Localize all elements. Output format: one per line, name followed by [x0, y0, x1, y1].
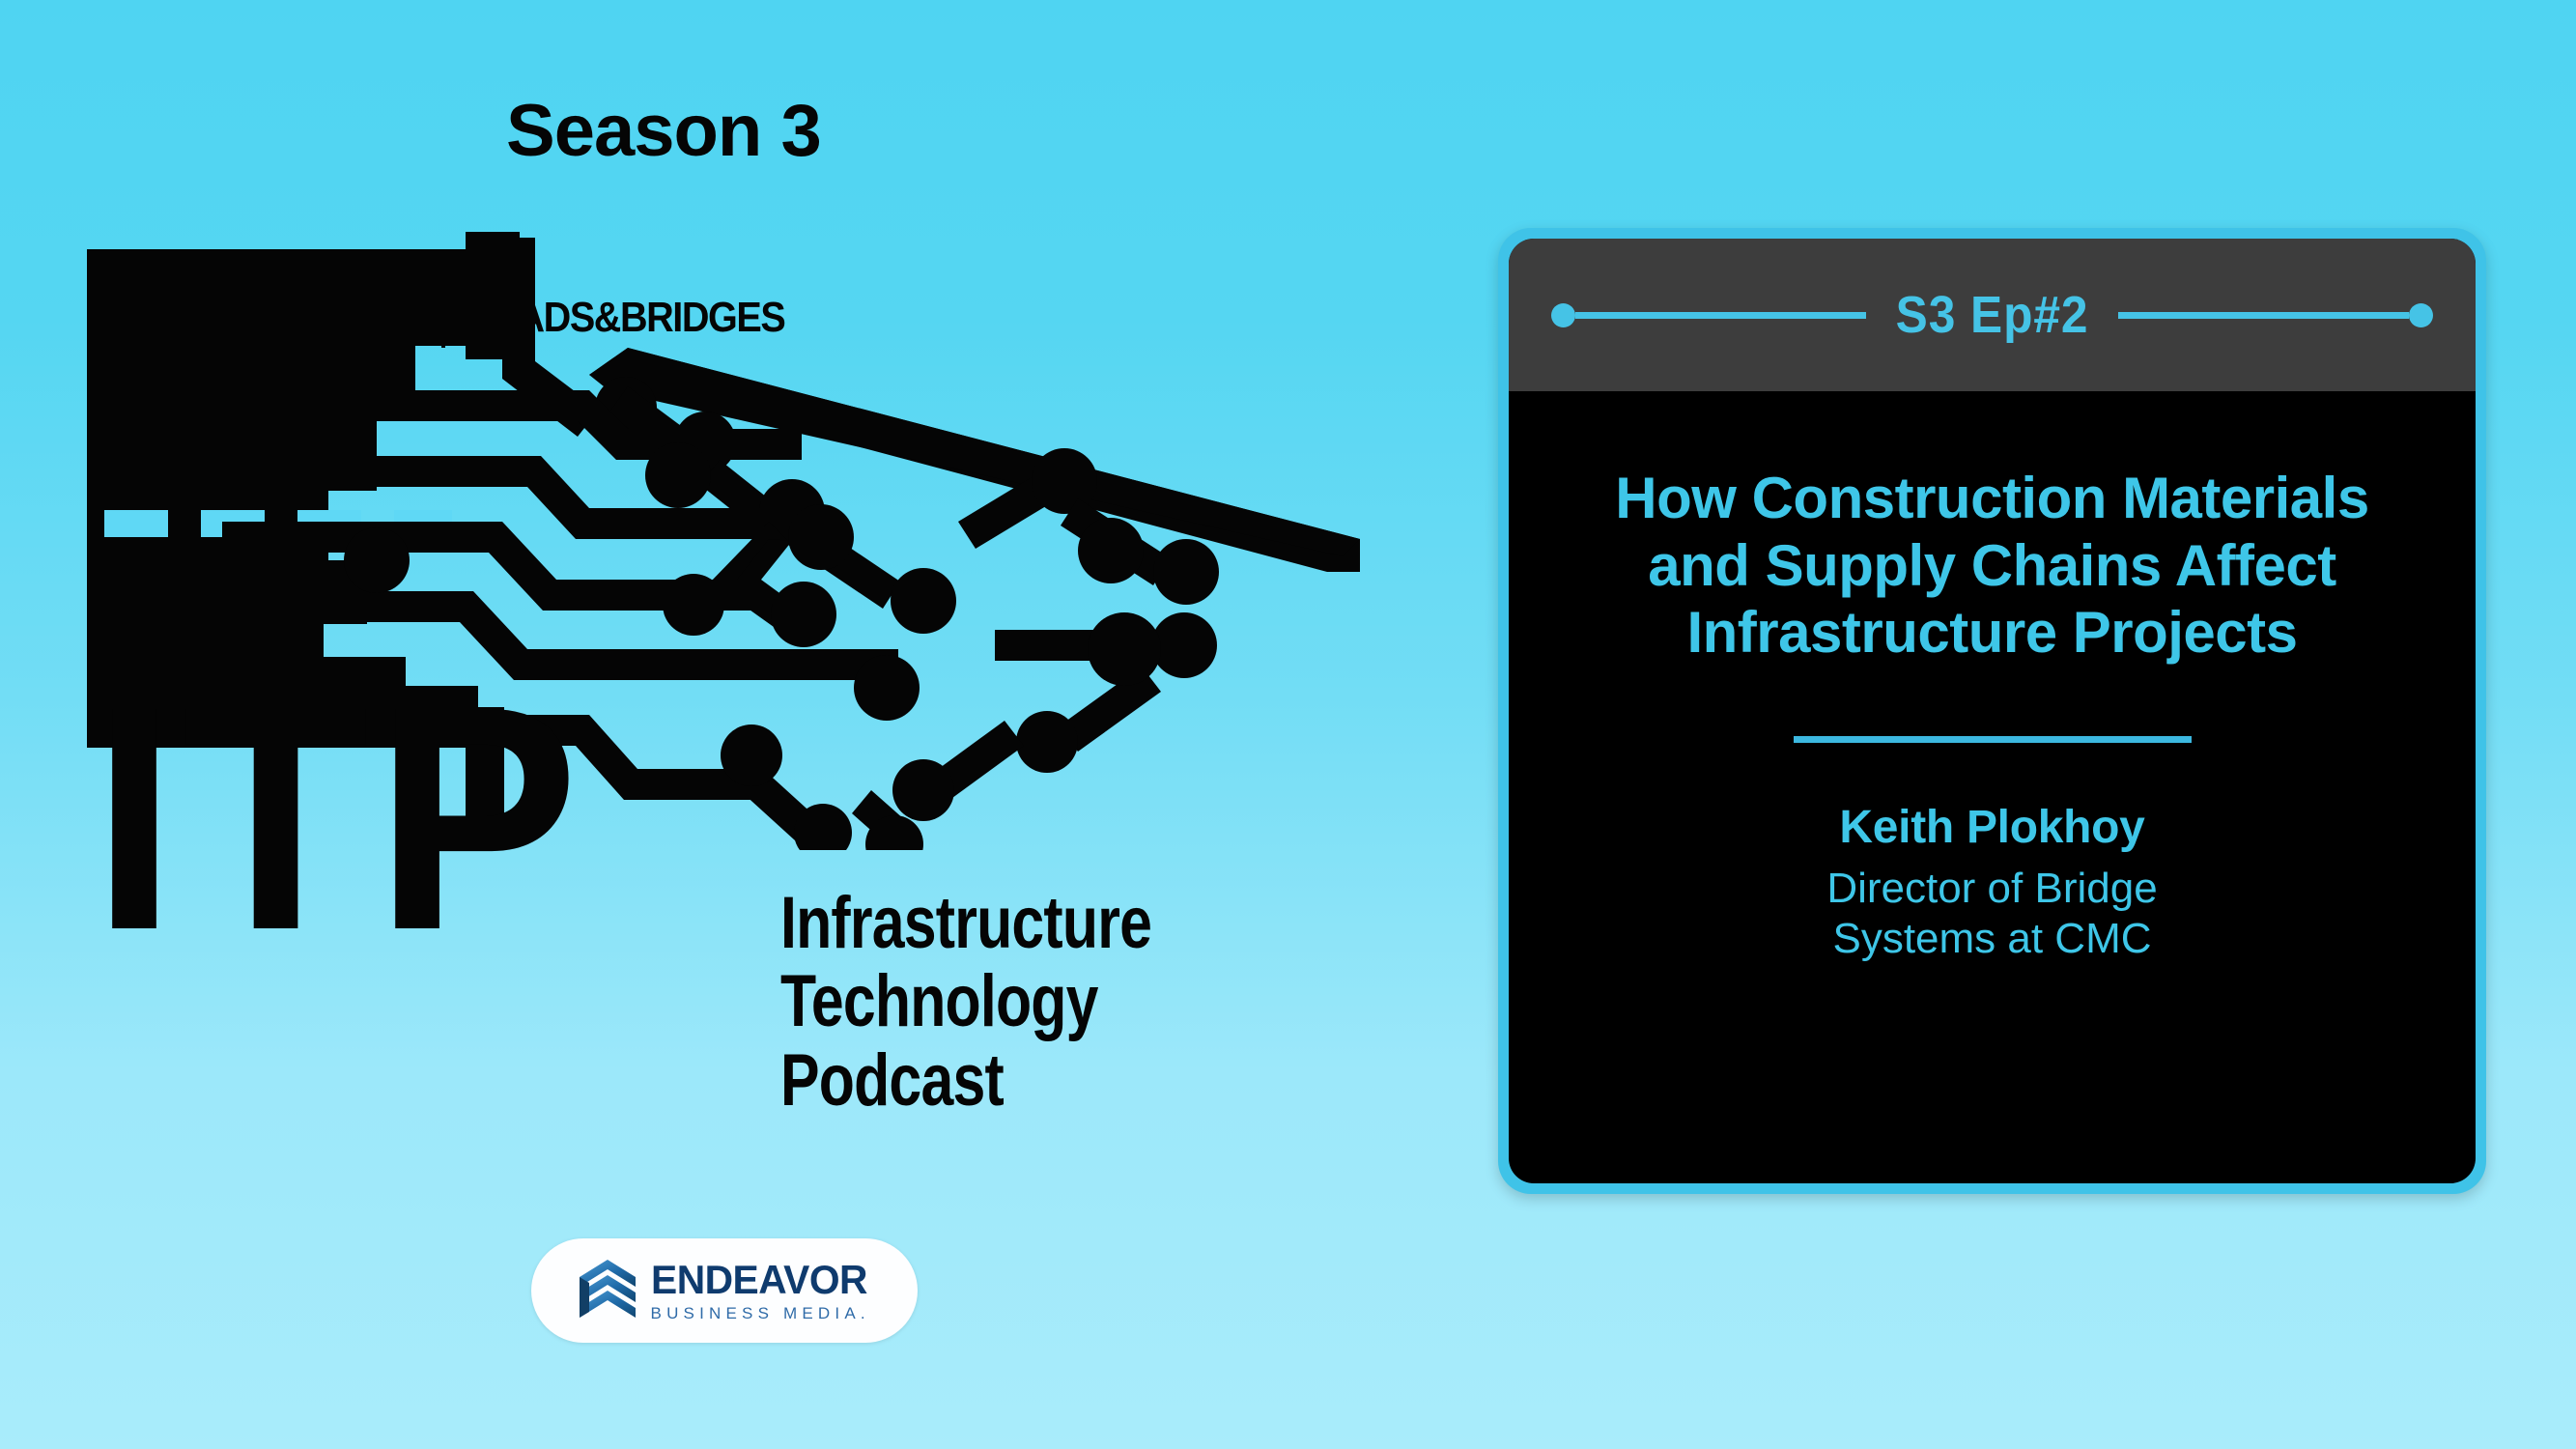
season-label: Season 3	[506, 95, 821, 168]
endeavor-text-block: ENDEAVOR BUSINESS MEDIA.	[651, 1260, 874, 1321]
endeavor-business-media-logo: ENDEAVOR BUSINESS MEDIA.	[531, 1238, 918, 1343]
itp-monogram: ITP	[92, 688, 584, 950]
guest-name: Keith Plokhoy	[1826, 803, 2157, 854]
episode-card-body: How Construction Materials and Supply Ch…	[1509, 391, 2476, 1183]
endeavor-wordmark: ENDEAVOR	[651, 1260, 867, 1300]
episode-title: How Construction Materials and Supply Ch…	[1559, 465, 2425, 667]
endeavor-tagline: BUSINESS MEDIA.	[651, 1305, 874, 1321]
episode-card-inner: S3 Ep#2 How Construction Materials and S…	[1509, 239, 2476, 1183]
podcast-cover-artwork: Season 3 MASS TRANSIT ROADS&BRIDGES	[0, 0, 2576, 1449]
guest-role: Director of Bridge Systems at CMC	[1826, 864, 2157, 966]
episode-card-divider	[1794, 736, 2192, 743]
header-dot-right-icon	[2409, 303, 2433, 327]
header-rule-left	[1575, 312, 1866, 319]
podcast-full-name: Infrastructure Technology Podcast	[780, 884, 1151, 1120]
header-rule-right	[2118, 312, 2409, 319]
episode-card-header: S3 Ep#2	[1509, 239, 2476, 391]
header-dot-left-icon	[1551, 303, 1575, 327]
episode-card: S3 Ep#2 How Construction Materials and S…	[1498, 228, 2486, 1194]
episode-tag: S3 Ep#2	[1876, 289, 2108, 341]
endeavor-chevron-icon	[576, 1258, 639, 1323]
road-slab-top	[87, 249, 493, 346]
guest-block: Keith Plokhoy Director of Bridge Systems…	[1826, 803, 2157, 965]
